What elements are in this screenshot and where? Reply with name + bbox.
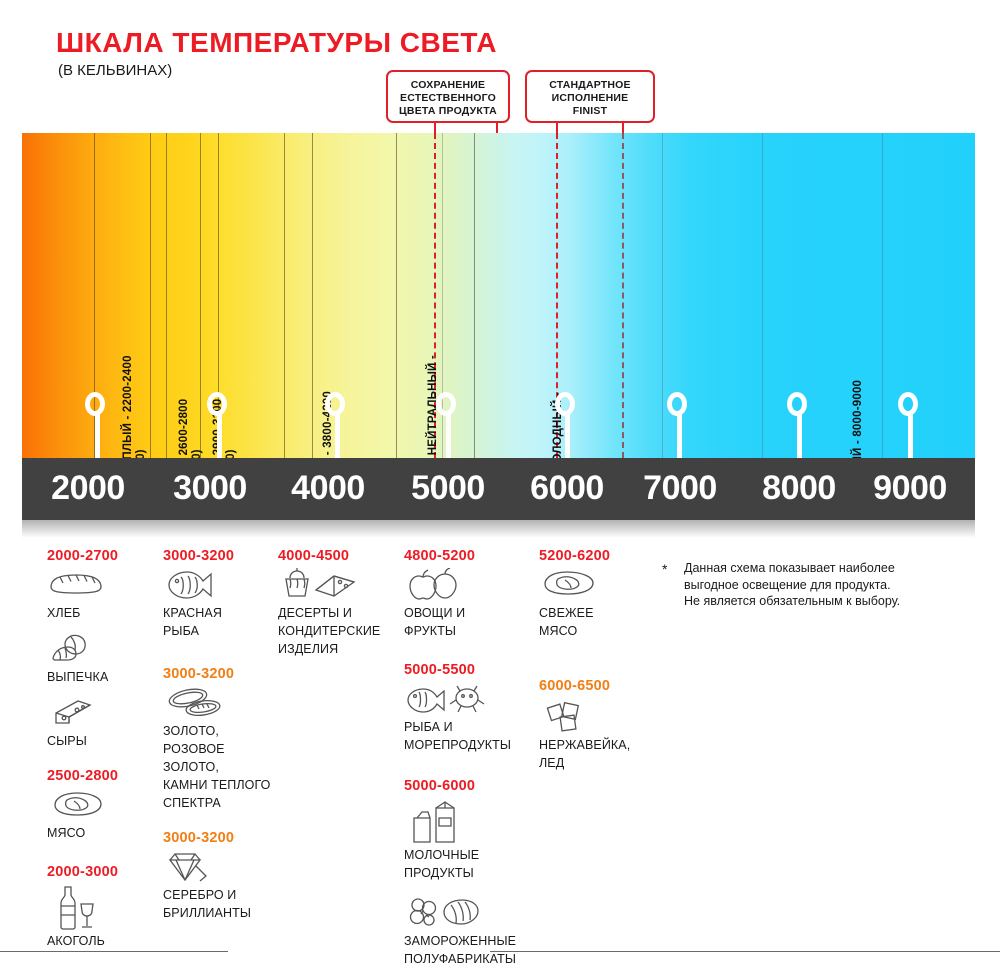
seafood-icon: [404, 682, 536, 716]
item-label: АКОГОЛЬ: [47, 934, 105, 948]
spectrum-gradient: [22, 133, 975, 458]
legend-item-meat: МЯСО: [47, 788, 152, 842]
frozen-food-icon: [404, 896, 536, 930]
legend-item-fruit: ОВОЩИ И ФРУКТЫ: [404, 568, 536, 640]
dessert-icon: [278, 568, 403, 602]
legend-item-frozen-food: ЗАМОРОЖЕННЫЕ ПОЛУФАБРИКАТЫ: [404, 896, 536, 968]
range-label: 5000-6000: [404, 778, 536, 794]
scale-tick-8000: 8000: [762, 469, 836, 508]
legend-group: 2000-2700 ХЛЕБ: [47, 548, 152, 750]
page-subtitle: (В КЕЛЬВИНАХ): [58, 62, 172, 79]
legend-column-4: 4800-5200 ОВОЩИ И ФРУКТЫ 5000-5500: [404, 548, 536, 980]
range-label: 6000-6500: [539, 678, 649, 694]
scale-tick-5000: 5000: [411, 469, 485, 508]
band-divider: [396, 133, 397, 458]
fresh-meat-icon: [539, 568, 649, 602]
item-label: НЕРЖАВЕЙКА, ЛЕД: [539, 738, 630, 770]
product-legend: 2000-2700 ХЛЕБ: [0, 548, 1000, 978]
legend-group: 4800-5200 ОВОЩИ И ФРУКТЫ: [404, 548, 536, 640]
item-label: ОВОЩИ И ФРУКТЫ: [404, 606, 465, 638]
item-label: МОЛОЧНЫЕ ПРОДУКТЫ: [404, 848, 479, 880]
legend-column-3: 4000-4500 ДЕСЕРТЫ И КОНДИТЕР: [278, 548, 403, 670]
cheese-icon: [47, 696, 152, 730]
alcohol-icon: [47, 884, 152, 930]
band-divider: [474, 133, 475, 458]
band-divider: [166, 133, 167, 458]
gold-rings-icon: [163, 686, 281, 720]
legend-group: 2500-2800 МЯСО: [47, 768, 152, 842]
legend-group: 6000-6500 НЕРЖАВЕЙКА, ЛЕД: [539, 678, 649, 772]
dashed-marker-6500: [622, 133, 624, 458]
legend-item-cheese: СЫРЫ: [47, 696, 152, 750]
band-divider: [662, 133, 663, 458]
legend-item-dessert: ДЕСЕРТЫ И КОНДИТЕРСКИЕ ИЗДЕЛИЯ: [278, 568, 403, 658]
bread-icon: [47, 568, 152, 602]
legend-item-red-fish: КРАСНАЯ РЫБА: [163, 568, 281, 640]
item-label: КРАСНАЯ РЫБА: [163, 606, 222, 638]
legend-group: 3000-3200 КРАСНАЯ РЫБА: [163, 548, 281, 640]
item-label: МЯСО: [47, 826, 85, 840]
band-divider: [150, 133, 151, 458]
legend-item-fresh-meat: СВЕЖЕЕ МЯСО: [539, 568, 649, 640]
legend-group: 5200-6200 СВЕЖЕЕ МЯСО: [539, 548, 649, 640]
item-label: СЕРЕБРО И БРИЛЛИАНТЫ: [163, 888, 251, 920]
band-label-cold: ХОЛОДНЫЙ - 8000-9000: [852, 380, 865, 458]
item-label: ЗОЛОТО, РОЗОВОЕ ЗОЛОТО, КАМНИ ТЕПЛОГО СП…: [163, 724, 271, 810]
legend-column-2: 3000-3200 КРАСНАЯ РЫБА 3000-3200: [163, 548, 281, 934]
item-label: ВЫПЕЧКА: [47, 670, 108, 684]
red-fish-icon: [163, 568, 281, 602]
scale-tick-6000: 6000: [530, 469, 604, 508]
legend-group: 4000-4500 ДЕСЕРТЫ И КОНДИТЕР: [278, 548, 403, 658]
item-label: РЫБА И МОРЕПРОДУКТЫ: [404, 720, 511, 752]
infographic-page: ШКАЛА ТЕМПЕРАТУРЫ СВЕТА (В КЕЛЬВИНАХ) СО…: [0, 0, 1000, 978]
item-label: СЫРЫ: [47, 734, 87, 748]
pastry-icon: [47, 632, 152, 666]
scale-tick-2000: 2000: [51, 469, 125, 508]
range-label: 2000-2700: [47, 548, 152, 564]
scale-tick-9000: 9000: [873, 469, 947, 508]
range-label: 3000-3200: [163, 548, 281, 564]
steak-icon: [47, 788, 152, 822]
callout-finist-standard: СТАНДАРТНОЕ ИСПОЛНЕНИЕ FINIST: [525, 70, 655, 123]
range-label: 5200-6200: [539, 548, 649, 564]
range-label: 4800-5200: [404, 548, 536, 564]
item-label: ДЕСЕРТЫ И КОНДИТЕРСКИЕ ИЗДЕЛИЯ: [278, 606, 380, 656]
callout-text: СОХРАНЕНИЕ ЕСТЕСТВЕННОГО ЦВЕТА ПРОДУКТА: [399, 79, 497, 117]
fruit-icon: [404, 568, 536, 602]
range-label: 3000-3200: [163, 666, 281, 682]
item-label: ЗАМОРОЖЕННЫЕ ПОЛУФАБРИКАТЫ: [404, 934, 516, 966]
dairy-icon: [404, 800, 536, 844]
footnote-marker: *: [662, 561, 667, 578]
legend-item-dairy: МОЛОЧНЫЕ ПРОДУКТЫ: [404, 800, 536, 882]
footnote: * Данная схема показывает наиболее выгод…: [662, 560, 992, 610]
callout-natural-color: СОХРАНЕНИЕ ЕСТЕСТВЕННОГО ЦВЕТА ПРОДУКТА: [386, 70, 510, 123]
footnote-text: Данная схема показывает наиболее выгодно…: [684, 560, 992, 610]
legend-group: 2000-3000 АКОГОЛЬ: [47, 864, 152, 950]
bottom-rule-left: [0, 951, 228, 952]
spectrum-bar: СУПЕР ТЕПЛЫЙ - 2200-2400 (тип К 2400) ТЕ…: [22, 133, 975, 458]
band-divider: [762, 133, 763, 458]
range-label: 4000-4500: [278, 548, 403, 564]
range-label: 2500-2800: [47, 768, 152, 784]
range-label: 5000-5500: [404, 662, 536, 678]
legend-column-5: 5200-6200 СВЕЖЕЕ МЯСО 6000-6500: [539, 548, 649, 784]
range-label: 3000-3200: [163, 830, 281, 846]
legend-item-seafood: РЫБА И МОРЕПРОДУКТЫ: [404, 682, 536, 754]
scale-tick-7000: 7000: [643, 469, 717, 508]
legend-item-alcohol: АКОГОЛЬ: [47, 884, 152, 950]
legend-column-1: 2000-2700 ХЛЕБ: [47, 548, 152, 962]
scale-tick-4000: 4000: [291, 469, 365, 508]
callout-text: СТАНДАРТНОЕ ИСПОЛНЕНИЕ FINIST: [549, 79, 631, 117]
bottom-rule-right: [490, 951, 1000, 952]
band-divider: [312, 133, 313, 458]
item-label: СВЕЖЕЕ МЯСО: [539, 606, 594, 638]
legend-item-diamond: СЕРЕБРО И БРИЛЛИАНТЫ: [163, 850, 281, 922]
legend-group: 3000-3200 ЗОЛОТО, РОЗОВОЕ ЗОЛОТО, КАМНИ …: [163, 666, 281, 812]
item-label: ХЛЕБ: [47, 606, 80, 620]
legend-item-ice: НЕРЖАВЕЙКА, ЛЕД: [539, 700, 649, 772]
scale-shadow: [22, 520, 975, 538]
legend-group: 5000-5500 РЫБА И МОРЕПРОДУКТЫ: [404, 662, 536, 754]
scale-tick-3000: 3000: [173, 469, 247, 508]
legend-group: 3000-3200 СЕРЕБРО И БРИЛЛИАНТЫ: [163, 830, 281, 922]
band-divider: [284, 133, 285, 458]
band-label-super-warm: СУПЕР ТЕПЛЫЙ - 2200-2400 (тип К 2400): [122, 355, 148, 458]
range-label: 2000-3000: [47, 864, 152, 880]
diamond-icon: [163, 850, 281, 884]
legend-item-bread: ХЛЕБ: [47, 568, 152, 622]
page-title: ШКАЛА ТЕМПЕРАТУРЫ СВЕТА: [56, 27, 497, 59]
band-divider: [882, 133, 883, 458]
legend-group: 5000-6000 МОЛОЧНЫЕ ПРОДУКТЫ: [404, 778, 536, 968]
legend-item-pastry: ВЫПЕЧКА: [47, 632, 152, 686]
ice-icon: [539, 700, 649, 734]
legend-item-gold: ЗОЛОТО, РОЗОВОЕ ЗОЛОТО, КАМНИ ТЕПЛОГО СП…: [163, 686, 281, 812]
band-label-warm-2700: ТЕПЛЫЙ - 2600-2800 (тип К 2700): [178, 399, 204, 458]
